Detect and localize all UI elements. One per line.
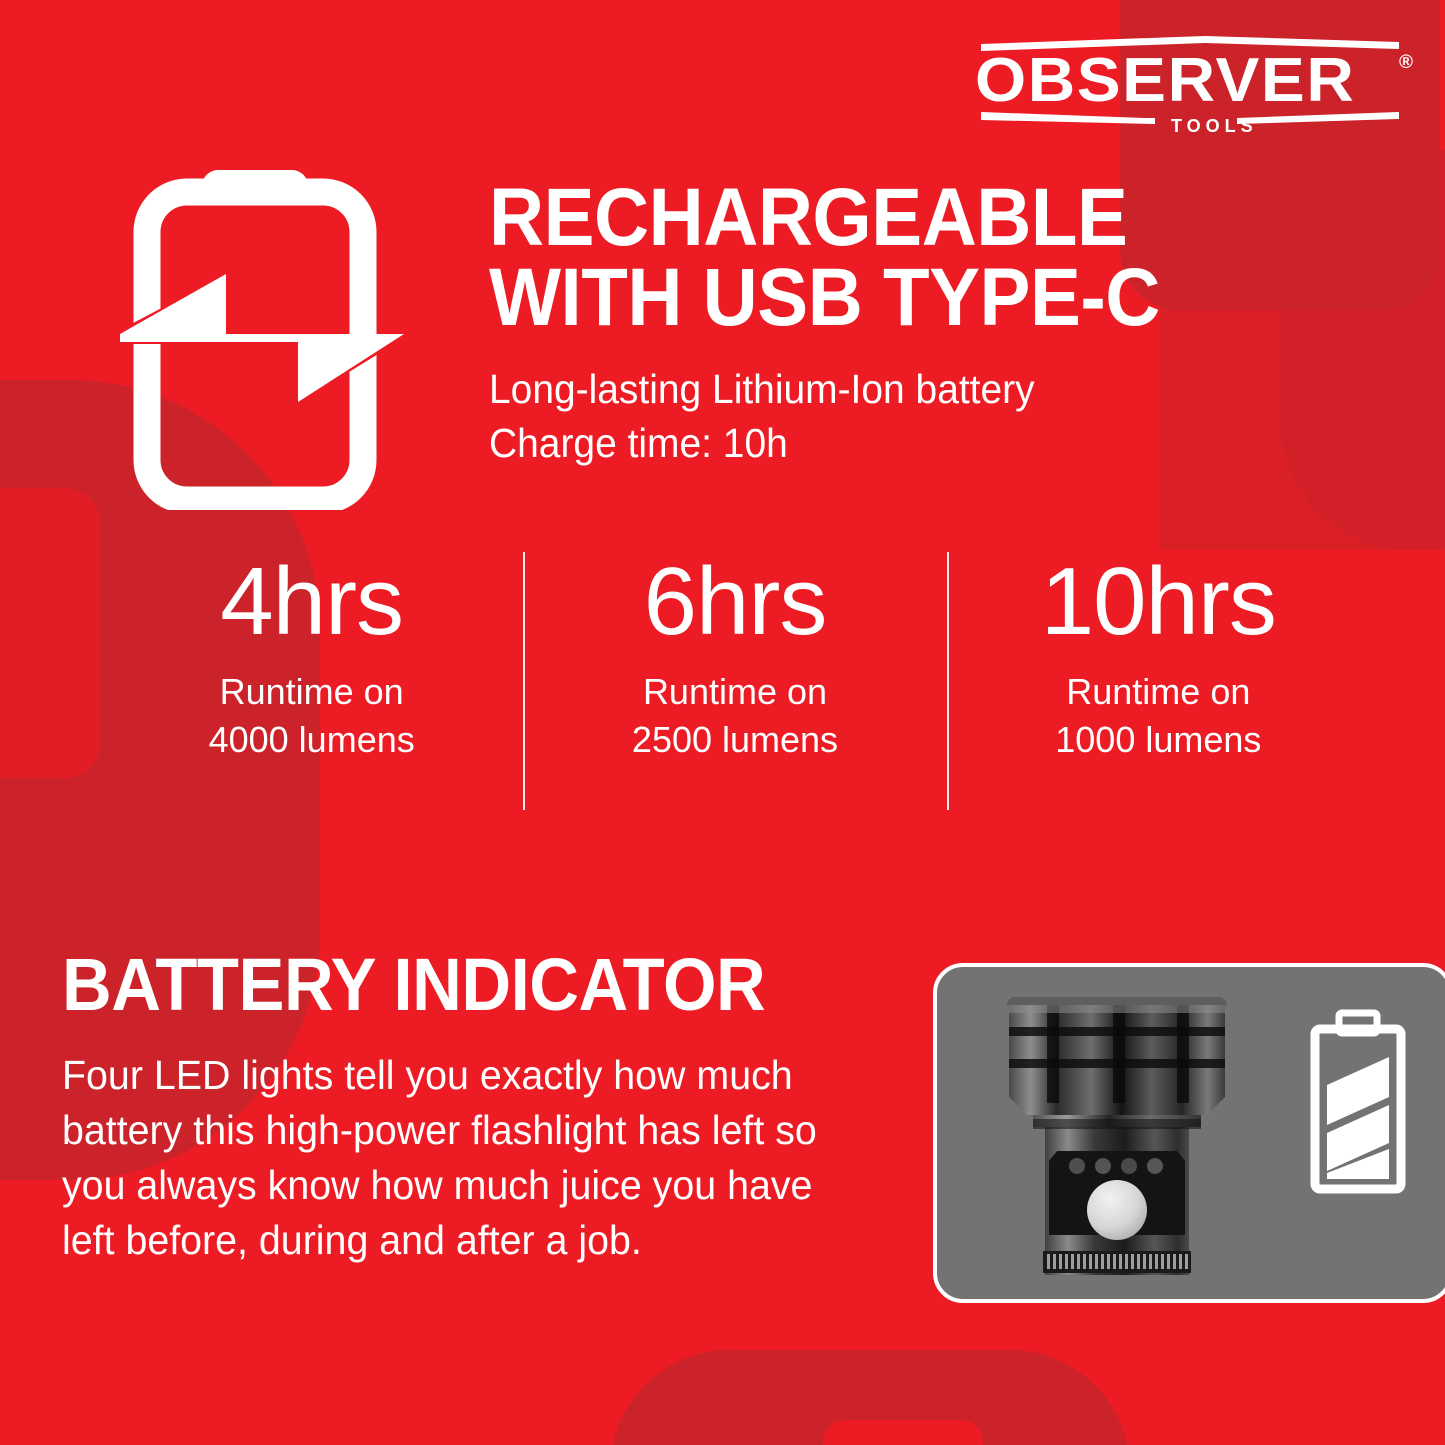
stat-label-line2: 1000 lumens	[947, 716, 1370, 764]
section-title-battery-indicator: BATTERY INDICATOR	[62, 948, 765, 1022]
product-photo-card	[933, 963, 1445, 1303]
subline-2: Charge time: 10h	[489, 417, 1325, 469]
stat-label: Runtime on 1000 lumens	[947, 668, 1370, 764]
registered-trademark-icon: ®	[1399, 52, 1413, 74]
logo-subtext: TOOLS	[1171, 116, 1258, 137]
stat-label-line2: 4000 lumens	[100, 716, 523, 764]
stat-value: 4hrs	[100, 554, 523, 650]
headline-line-2: WITH USB TYPE-C	[489, 258, 1307, 338]
stat-item-1: 4hrs Runtime on 4000 lumens	[100, 548, 523, 810]
stat-label-line1: Runtime on	[947, 668, 1370, 716]
brand-logo: OBSERVER ® TOOLS	[975, 28, 1413, 136]
logo-wordmark: OBSERVER	[975, 50, 1412, 112]
stat-label-line1: Runtime on	[100, 668, 523, 716]
stat-value: 6hrs	[523, 554, 946, 650]
stat-label: Runtime on 4000 lumens	[100, 668, 523, 764]
headline-line-1: RECHARGEABLE	[489, 178, 1307, 258]
battery-level-icon	[1315, 1013, 1401, 1189]
stat-label: Runtime on 2500 lumens	[523, 668, 946, 764]
stat-value: 10hrs	[947, 554, 1370, 650]
stat-label-line1: Runtime on	[523, 668, 946, 716]
stat-item-2: 6hrs Runtime on 2500 lumens	[523, 548, 946, 810]
hero-text-block: RECHARGEABLE WITH USB TYPE-C Long-lastin…	[489, 178, 1369, 469]
section-body-battery-indicator: Four LED lights tell you exactly how muc…	[62, 1048, 866, 1268]
runtime-stats-row: 4hrs Runtime on 4000 lumens 6hrs Runtime…	[100, 548, 1370, 810]
subline-1: Long-lasting Lithium-Ion battery	[489, 363, 1325, 415]
stat-label-line2: 2500 lumens	[523, 716, 946, 764]
flashlight-head-photo	[937, 967, 1445, 1299]
stat-item-3: 10hrs Runtime on 1000 lumens	[947, 548, 1370, 810]
battery-charging-icon	[112, 162, 412, 510]
